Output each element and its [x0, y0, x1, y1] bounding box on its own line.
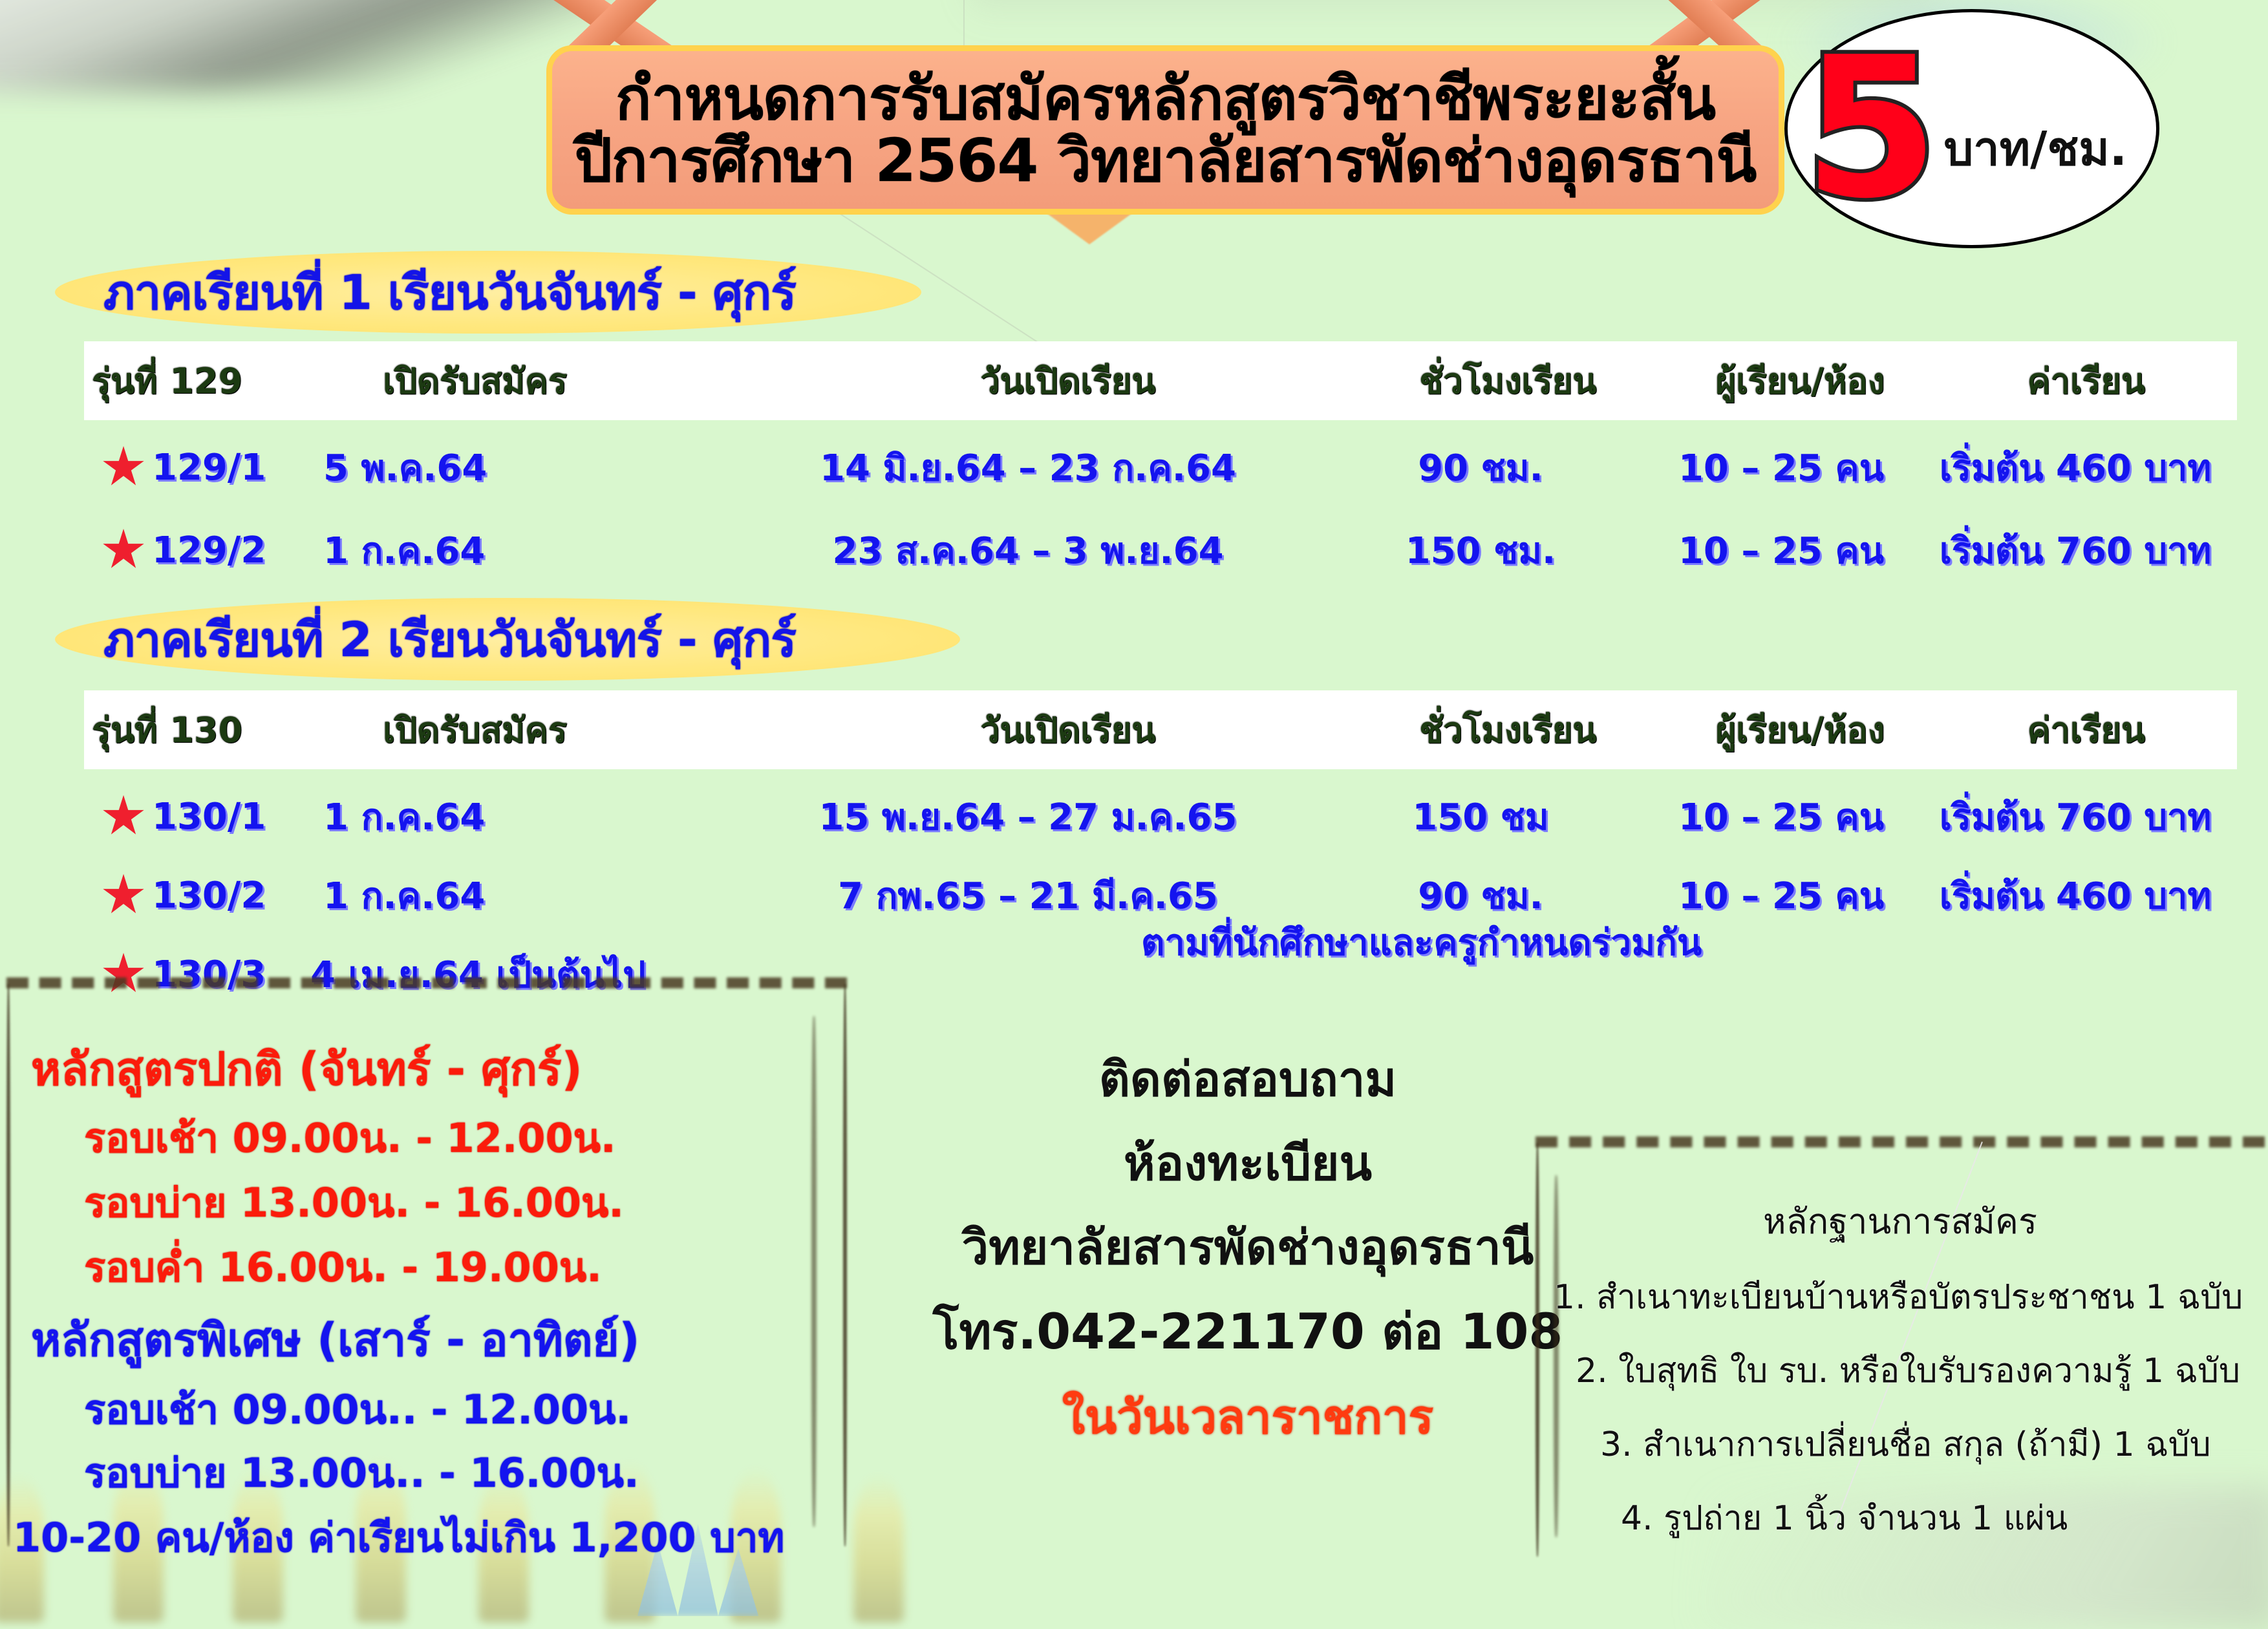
cell-fee: เริ่มต้น 460 บาท: [1920, 439, 2231, 496]
schedule-special-row-2: รอบบ่าย 13.00น.. - 16.00น.: [84, 1442, 639, 1505]
price-badge-number: 5: [1804, 49, 1939, 208]
cell-generation: 129/2: [152, 529, 323, 571]
title-ribbon-wrap: กำหนดการรับสมัครหลักสูตรวิชาชีพระยะสั้น …: [546, 31, 1784, 225]
cell-open: 5 พ.ค.64: [323, 439, 737, 496]
cell-seats: 10 – 25 คน: [1642, 788, 1920, 846]
cell-generation: 130/1: [152, 796, 323, 838]
th-open: เปิดรับสมัคร: [383, 353, 785, 409]
th-seats: ผู้เรียน/ห้อง: [1665, 702, 1935, 758]
cell-fee: เริ่มต้น 460 บาท: [1920, 867, 2231, 924]
cell-hours: 150 ชม: [1319, 788, 1642, 846]
page-title-banner: กำหนดการรับสมัครหลักสูตรวิชาชีพระยะสั้น …: [546, 45, 1784, 215]
th-seats: ผู้เรียน/ห้อง: [1665, 353, 1935, 409]
documents-item-2: 2. ใบสุทธิ ใบ รบ. หรือใบรับรองความรู้ 1 …: [1576, 1343, 2240, 1397]
section1-table-header: รุ่นที่ 129 เปิดรับสมัคร วันเปิดเรียน ชั…: [84, 341, 2237, 420]
table-row: 129/1 5 พ.ค.64 14 มิ.ย.64 – 23 ก.ค.64 90…: [84, 429, 2237, 506]
contact-hours-note: ในวันเวลาราชการ: [925, 1379, 1571, 1454]
sketch-edge-left: [6, 984, 10, 1546]
cell-fee: เริ่มต้น 760 บาท: [1920, 788, 2231, 846]
th-hours: ชั่วโมงเรียน: [1351, 702, 1665, 758]
cell-hours: 150 ชม.: [1319, 522, 1642, 579]
cell-open: 1 ก.ค.64: [323, 522, 737, 579]
sketch-edge-right: [843, 984, 847, 1546]
page-title-line-2: ปีการศึกษา 2564 วิทยาลัยสารพัดช่างอุดรธา…: [575, 130, 1757, 192]
star-icon: [102, 795, 145, 838]
contact-line-2: ห้องทะเบียน: [925, 1125, 1571, 1201]
cell-dates: 23 ส.ค.64 – 3 พ.ย.64: [737, 522, 1319, 579]
documents-item-1: 1. สำเนาทะเบียนบ้านหรือบัตรประชาชน 1 ฉบั…: [1554, 1270, 2243, 1323]
contact-phone: โทร.042-221170 ต่อ 108: [925, 1293, 1571, 1370]
section1-table: รุ่นที่ 129 เปิดรับสมัคร วันเปิดเรียน ชั…: [84, 341, 2237, 588]
schedule-normal-row-1: รอบเช้า 09.00น. - 12.00น.: [84, 1107, 616, 1170]
section2-joint-note: ตามที่นักศึกษาและครูกำหนดร่วมกัน: [1141, 913, 1702, 971]
schedule-normal-row-3: รอบค่ำ 16.00น. - 19.00น.: [84, 1236, 602, 1299]
contact-block: ติดต่อสอบถาม ห้องทะเบียน วิทยาลัยสารพัดช…: [925, 1041, 1571, 1454]
documents-box: หลักฐานการสมัคร 1. สำเนาทะเบียนบ้านหรือบ…: [1535, 1136, 2265, 1557]
star-icon: [102, 874, 145, 917]
section1-pill-label: ภาคเรียนที่ 1 เรียนวันจันทร์ - ศุกร์: [103, 254, 796, 330]
contact-line-3: วิทยาลัยสารพัดช่างอุดรธานี: [925, 1209, 1571, 1285]
cell-generation: 130/2: [152, 875, 323, 917]
star-icon: [102, 446, 145, 489]
cell-open: 1 ก.ค.64: [323, 788, 737, 846]
row-star: [84, 446, 152, 489]
sketch-dashed-top: [6, 977, 847, 988]
th-generation: รุ่นที่ 130: [84, 702, 383, 758]
section2-pill-label: ภาคเรียนที่ 2 เรียนวันจันทร์ - ศุกร์: [103, 601, 796, 677]
cell-open: 1 ก.ค.64: [323, 867, 737, 924]
th-fee: ค่าเรียน: [1935, 702, 2237, 758]
section2-table-header: รุ่นที่ 130 เปิดรับสมัคร วันเปิดเรียน ชั…: [84, 690, 2237, 769]
table-row: 129/2 1 ก.ค.64 23 ส.ค.64 – 3 พ.ย.64 150 …: [84, 512, 2237, 588]
star-icon: [102, 529, 145, 571]
th-dates: วันเปิดเรียน: [785, 702, 1351, 758]
documents-title: หลักฐานการสมัคร: [1535, 1193, 2265, 1249]
schedule-special-row-1: รอบเช้า 09.00น.. - 12.00น.: [84, 1378, 631, 1442]
schedule-footer: 10-20 คน/ห้อง ค่าเรียนไม่เกิน 1,200 บาท: [13, 1506, 784, 1570]
cell-dates: 14 มิ.ย.64 – 23 ก.ค.64: [737, 439, 1319, 496]
contact-line-1: ติดต่อสอบถาม: [925, 1041, 1571, 1117]
cell-generation: 129/1: [152, 447, 323, 489]
row-star: [84, 795, 152, 838]
th-dates: วันเปิดเรียน: [785, 353, 1351, 409]
documents-item-3: 3. สำเนาการเปลี่ยนชื่อ สกุล (ถ้ามี) 1 ฉบ…: [1600, 1417, 2211, 1471]
schedule-box: หลักสูตรปกติ (จันทร์ - ศุกร์) รอบเช้า 09…: [6, 977, 847, 1546]
page-title-line-1: กำหนดการรับสมัครหลักสูตรวิชาชีพระยะสั้น: [615, 68, 1715, 130]
price-badge-unit: บาท/ชม.: [1944, 111, 2128, 186]
sketch-edge-left-2: [811, 1016, 817, 1527]
schedule-normal-row-2: รอบบ่าย 13.00น. - 16.00น.: [84, 1171, 624, 1235]
th-generation: รุ่นที่ 129: [84, 353, 383, 409]
cell-hours: 90 ชม.: [1319, 439, 1642, 496]
schedule-normal-title: หลักสูตรปกติ (จันทร์ - ศุกร์): [31, 1033, 583, 1105]
section2-pill: ภาคเรียนที่ 2 เรียนวันจันทร์ - ศุกร์: [55, 598, 960, 681]
th-fee: ค่าเรียน: [1935, 353, 2237, 409]
documents-item-4: 4. รูปถ่าย 1 นิ้ว จำนวน 1 แผ่น: [1621, 1491, 2068, 1544]
row-star: [84, 874, 152, 917]
background-smudge-top-left: [0, 0, 608, 90]
schedule-special-title: หลักสูตรพิเศษ (เสาร์ - อาทิตย์): [31, 1304, 640, 1376]
th-hours: ชั่วโมงเรียน: [1351, 353, 1665, 409]
price-badge: 5 บาท/ชม.: [1784, 9, 2159, 248]
row-star: [84, 529, 152, 571]
cell-fee: เริ่มต้น 760 บาท: [1920, 522, 2231, 579]
cell-dates: 15 พ.ย.64 – 27 ม.ค.65: [737, 788, 1319, 846]
sketch-dashed-top: [1535, 1136, 2265, 1147]
cell-seats: 10 – 25 คน: [1642, 522, 1920, 579]
section1-pill: ภาคเรียนที่ 1 เรียนวันจันทร์ - ศุกร์: [55, 251, 921, 334]
cell-seats: 10 – 25 คน: [1642, 439, 1920, 496]
th-open: เปิดรับสมัคร: [383, 702, 785, 758]
table-row: 130/1 1 ก.ค.64 15 พ.ย.64 – 27 ม.ค.65 150…: [84, 778, 2237, 855]
